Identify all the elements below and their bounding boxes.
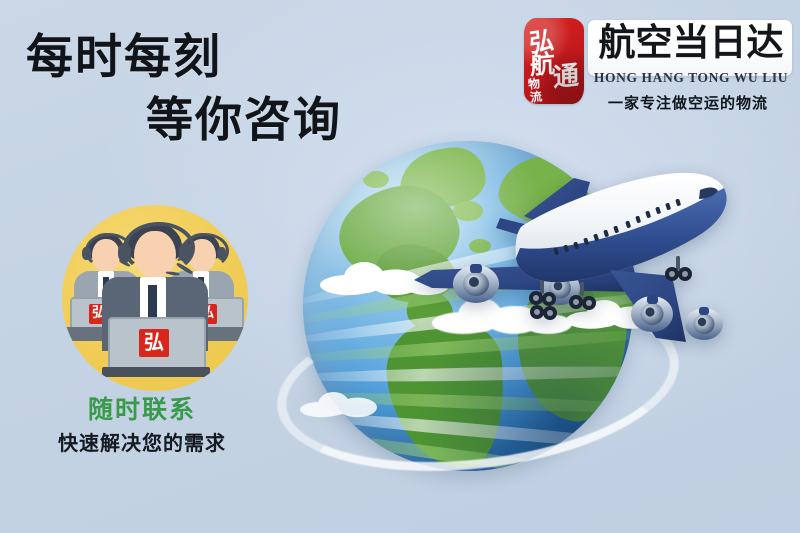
- company-seal-icon: 弘 航 通 物 流: [524, 18, 584, 104]
- agent-right-headset-cup: [217, 247, 226, 260]
- brand-logo-lockup: 弘 航 通 物 流 航空当日达 HONG HANG TONG WU LIU 一家…: [524, 18, 792, 122]
- airplane-illustration: [404, 152, 796, 372]
- brand-name-pinyin: HONG HANG TONG WU LIU: [588, 70, 794, 86]
- seal-char-4: 物: [527, 74, 541, 92]
- seal-char-5: 流: [529, 87, 543, 104]
- laptop-center-logo-char: 弘: [144, 333, 164, 353]
- brand-tagline: 一家专注做空运的物流: [582, 92, 794, 113]
- headline-line-2: 等你咨询: [146, 96, 342, 143]
- caption-contact-anytime: 随时联系: [88, 390, 196, 426]
- seal-characters: 弘 航 通 物 流: [524, 18, 584, 104]
- headline-line-1: 每时每刻: [26, 33, 222, 80]
- laptop-center-base: [102, 367, 210, 377]
- cloud-puff: [338, 398, 377, 418]
- agent-center-headset-cup: [179, 243, 192, 262]
- agent-center-headset-cup: [118, 243, 131, 262]
- laptop-center-logo: 弘: [139, 329, 169, 357]
- seal-char-3: 通: [553, 55, 580, 95]
- agent-left-headset-cup: [82, 247, 91, 260]
- customer-service-illustration: 弘 弘 弘: [62, 205, 248, 391]
- poster-canvas: 每时每刻 等你咨询 弘 航 通 物 流 航空当日达 HONG HANG TONG…: [0, 0, 800, 533]
- seal-char-1: 弘: [528, 20, 555, 60]
- seal-char-2: 航: [530, 44, 556, 82]
- caption-fast-service: 快速解决您的需求: [58, 427, 226, 456]
- brand-name-cn: 航空当日达: [588, 24, 794, 61]
